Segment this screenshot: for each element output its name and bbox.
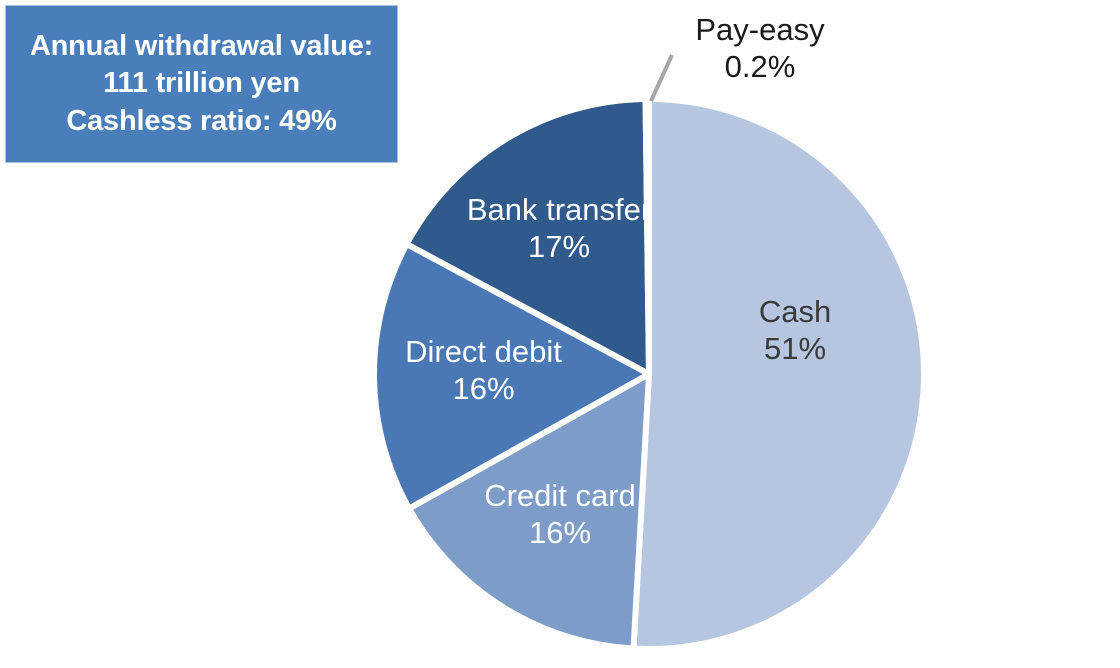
slice-label-bank-transfer: Bank transfer 17% — [448, 192, 670, 265]
slice-label-credit-card: Credit card 16% — [455, 478, 665, 551]
slice-label-cash: Cash 51% — [700, 294, 890, 367]
slice-label-credit-card-name: Credit card — [455, 478, 665, 515]
slice-label-direct-debit-name: Direct debit — [376, 334, 591, 371]
slice-label-bank-transfer-name: Bank transfer — [448, 192, 670, 229]
slice-label-bank-transfer-value: 17% — [448, 229, 670, 266]
pie-chart-figure: Annual withdrawal value: 111 trillion ye… — [0, 0, 1120, 668]
slice-label-pay-easy: Pay-easy 0.2% — [655, 12, 865, 85]
slice-label-direct-debit-value: 16% — [376, 371, 591, 408]
slice-label-credit-card-value: 16% — [455, 515, 665, 552]
slice-label-cash-value: 51% — [700, 331, 890, 368]
slice-label-pay-easy-value: 0.2% — [655, 49, 865, 86]
slice-label-direct-debit: Direct debit 16% — [376, 334, 591, 407]
slice-label-pay-easy-name: Pay-easy — [655, 12, 865, 49]
slice-label-cash-name: Cash — [700, 294, 890, 331]
pie-slice-cash — [633, 99, 924, 649]
